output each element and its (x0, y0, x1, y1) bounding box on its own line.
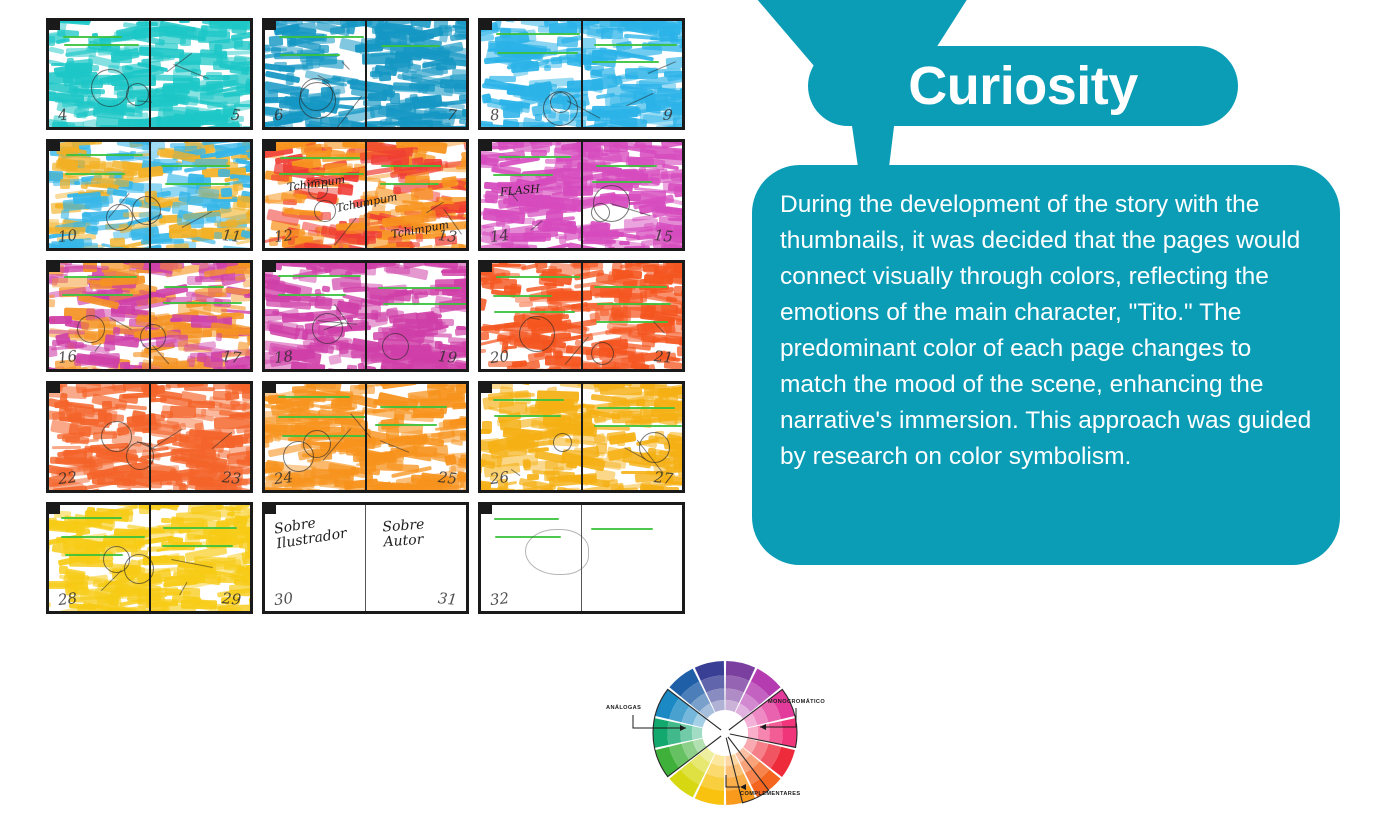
pencil-doodle (106, 204, 133, 231)
text-placeholder-line (61, 517, 122, 519)
text-placeholder-line (592, 61, 659, 63)
storyboard-thumbnail-grid: 4567891011TchimpumTchumpumTchimpum1213FL… (46, 18, 686, 638)
corner-mark (481, 142, 492, 151)
text-placeholder-line (279, 173, 364, 175)
storyboard-thumbnail-spread-10-11[interactable]: 1011 (46, 139, 253, 251)
page-number-right: 9 (663, 106, 674, 125)
text-placeholder-line (64, 276, 137, 278)
text-placeholder-line (163, 302, 242, 304)
color-wheel-diagram: ANÁLOGAS MONOCROMÁTICO COMPLEMENTARES (600, 655, 850, 820)
page-number-right: 17 (221, 347, 242, 367)
text-placeholder-line (378, 287, 461, 289)
text-placeholder-line (278, 294, 346, 296)
text-placeholder-line (63, 36, 122, 38)
corner-mark (265, 384, 276, 393)
pencil-doodle (91, 69, 129, 107)
color-wheel-svg (600, 655, 850, 820)
page-number-right: 13 (437, 226, 458, 246)
text-placeholder-line (596, 165, 657, 167)
spread-gutter (149, 21, 151, 127)
corner-mark (49, 142, 60, 151)
text-placeholder-line (62, 294, 133, 296)
page-number-left: 4 (57, 105, 69, 124)
corner-mark (49, 263, 60, 272)
spread-gutter (149, 505, 151, 611)
page-number-right: 21 (653, 347, 674, 367)
page-title: Curiosity (908, 59, 1138, 113)
page-number-left: 6 (273, 105, 285, 124)
page-number-left: 30 (273, 589, 294, 609)
text-placeholder-line (64, 44, 139, 46)
text-placeholder-line (494, 311, 575, 313)
corner-mark (481, 21, 492, 30)
text-placeholder-line (279, 36, 364, 38)
storyboard-row: 161718192021 (46, 260, 686, 372)
text-placeholder-line (278, 396, 350, 398)
pencil-doodle (543, 91, 578, 126)
pencil-doodle (77, 315, 105, 343)
wheel-segment (667, 721, 681, 745)
storyboard-thumbnail-spread-04-05[interactable]: 45 (46, 18, 253, 130)
text-placeholder-line (380, 183, 439, 185)
text-placeholder-line (161, 165, 230, 167)
pencil-doodle (525, 529, 589, 575)
page-number-left: 28 (57, 589, 78, 609)
page-number-left: 14 (489, 226, 510, 246)
pencil-doodle (103, 546, 130, 573)
text-placeholder-line (499, 156, 571, 158)
text-placeholder-line (375, 424, 437, 426)
spread-gutter (581, 384, 583, 490)
wheel-segment (781, 718, 797, 748)
pencil-doodle (553, 433, 572, 452)
storyboard-row: 222324252627 (46, 381, 686, 493)
storyboard-thumbnail-spread-24-25[interactable]: 2425 (262, 381, 469, 493)
spread-gutter (581, 505, 582, 611)
pencil-doodle (591, 203, 610, 222)
text-placeholder-line (496, 276, 580, 278)
text-placeholder-line (164, 286, 224, 288)
wheel-label-analogous: ANÁLOGAS (606, 705, 641, 711)
curiosity-body-card: During the development of the story with… (752, 165, 1340, 565)
text-placeholder-line (497, 52, 578, 54)
text-placeholder-line (381, 165, 441, 167)
pencil-doodle (300, 78, 333, 111)
storyboard-row: 2829SobreIlustradorSobreAutor303132 (46, 502, 686, 614)
text-placeholder-line (280, 157, 360, 159)
storyboard-thumbnail-spread-18-19[interactable]: 1819 (262, 260, 469, 372)
page-number-right: 27 (653, 468, 674, 488)
spread-gutter (365, 505, 366, 611)
page-number-right: 23 (221, 468, 242, 488)
storyboard-thumbnail-spread-28-29[interactable]: 2829 (46, 502, 253, 614)
pencil-doodle (591, 342, 614, 365)
text-placeholder-line (280, 54, 340, 56)
text-placeholder-line (493, 295, 552, 297)
page-number-left: 26 (489, 468, 510, 488)
corner-mark (265, 263, 276, 272)
page-number-left: 20 (489, 347, 510, 367)
handwritten-sobre-autor: SobreAutor (382, 518, 426, 550)
wheel-segment (692, 726, 703, 740)
page-number-right: 19 (437, 347, 458, 367)
curiosity-body-text: During the development of the story with… (780, 187, 1314, 475)
page-number-left: 18 (273, 347, 294, 367)
spread-gutter (365, 21, 367, 127)
page-number-left: 22 (57, 468, 78, 488)
spread-gutter (149, 263, 151, 369)
text-placeholder-line (278, 275, 361, 277)
wheel-hub (720, 728, 730, 738)
page-number-left: 32 (489, 589, 510, 609)
text-placeholder-line (165, 183, 230, 185)
text-placeholder-line (592, 181, 652, 183)
text-placeholder-line (594, 286, 667, 288)
text-placeholder-line (594, 425, 682, 427)
text-placeholder-line (61, 536, 145, 538)
corner-mark (265, 21, 276, 30)
wheel-label-complementary: COMPLEMENTARES (740, 791, 801, 797)
wheel-segment (769, 721, 783, 745)
text-placeholder-line (494, 415, 561, 417)
text-placeholder-line (591, 528, 653, 530)
storyboard-row: 456789 (46, 18, 686, 130)
text-placeholder-line (163, 527, 237, 529)
page-number-left: 8 (489, 105, 501, 124)
spread-gutter (149, 384, 151, 490)
pencil-doodle (519, 316, 555, 352)
text-placeholder-line (597, 407, 675, 409)
corner-mark (481, 263, 492, 272)
text-placeholder-line (594, 44, 677, 46)
page-number-left: 24 (273, 468, 294, 488)
storyboard-thumbnail-spread-22-23[interactable]: 2223 (46, 381, 253, 493)
text-placeholder-line (66, 154, 143, 156)
text-placeholder-line (496, 33, 580, 35)
wheel-label-monochromatic: MONOCROMÁTICO (768, 699, 825, 705)
corner-mark (481, 384, 492, 393)
page-number-left: 16 (57, 347, 78, 367)
text-placeholder-line (380, 406, 447, 408)
text-placeholder-line (65, 173, 125, 175)
page-number-right: 31 (437, 589, 458, 609)
spread-gutter (581, 263, 583, 369)
spread-gutter (581, 21, 583, 127)
corner-mark (49, 384, 60, 393)
page-number-left: 10 (57, 226, 78, 246)
pencil-doodle (126, 83, 149, 106)
storyboard-thumbnail-spread-08-09[interactable]: 89 (478, 18, 685, 130)
page-number-left: 12 (273, 226, 294, 246)
spread-gutter (365, 384, 367, 490)
storyboard-thumbnail-spread-06-07[interactable]: 67 (262, 18, 469, 130)
page-number-right: 29 (221, 589, 242, 609)
page-number-right: 11 (221, 226, 242, 246)
spread-gutter (365, 263, 367, 369)
corner-mark (265, 142, 276, 151)
page-number-right: 7 (447, 106, 458, 125)
text-placeholder-line (493, 399, 564, 401)
corner-mark (49, 505, 60, 514)
curiosity-callout: Curiosity During the development of the … (730, 0, 1350, 600)
text-placeholder-line (162, 545, 233, 547)
storyboard-thumbnail-spread-16-17[interactable]: 1617 (46, 260, 253, 372)
text-placeholder-line (493, 174, 553, 176)
spread-gutter (581, 142, 583, 248)
text-placeholder-line (381, 45, 440, 47)
text-placeholder-line (494, 518, 559, 520)
pencil-doodle (382, 333, 409, 360)
storyboard-thumbnail-spread-30-31[interactable]: SobreIlustradorSobreAutor3031 (262, 502, 469, 614)
corner-mark (481, 505, 492, 514)
storyboard-thumbnail-spread-12-13[interactable]: TchimpumTchumpumTchimpum1213 (262, 139, 469, 251)
text-placeholder-line (596, 321, 668, 323)
storyboard-row: 1011TchimpumTchumpumTchimpum1213FLASH141… (46, 139, 686, 251)
page-number-right: 25 (437, 468, 458, 488)
storyboard-thumbnail-spread-26-27[interactable]: 2627 (478, 381, 685, 493)
corner-mark (49, 21, 60, 30)
wheel-segment (653, 718, 669, 748)
corner-mark (265, 505, 276, 514)
page-number-right: 15 (653, 226, 674, 246)
curiosity-title-pill: Curiosity (808, 46, 1238, 126)
text-placeholder-line (597, 303, 671, 305)
text-placeholder-line (383, 303, 469, 305)
storyboard-thumbnail-spread-20-21[interactable]: 2021 (478, 260, 685, 372)
pencil-doodle (314, 200, 336, 222)
storyboard-thumbnail-spread-32[interactable]: 32 (478, 502, 685, 614)
storyboard-thumbnail-spread-14-15[interactable]: FLASH1415 (478, 139, 685, 251)
spread-gutter (149, 142, 151, 248)
